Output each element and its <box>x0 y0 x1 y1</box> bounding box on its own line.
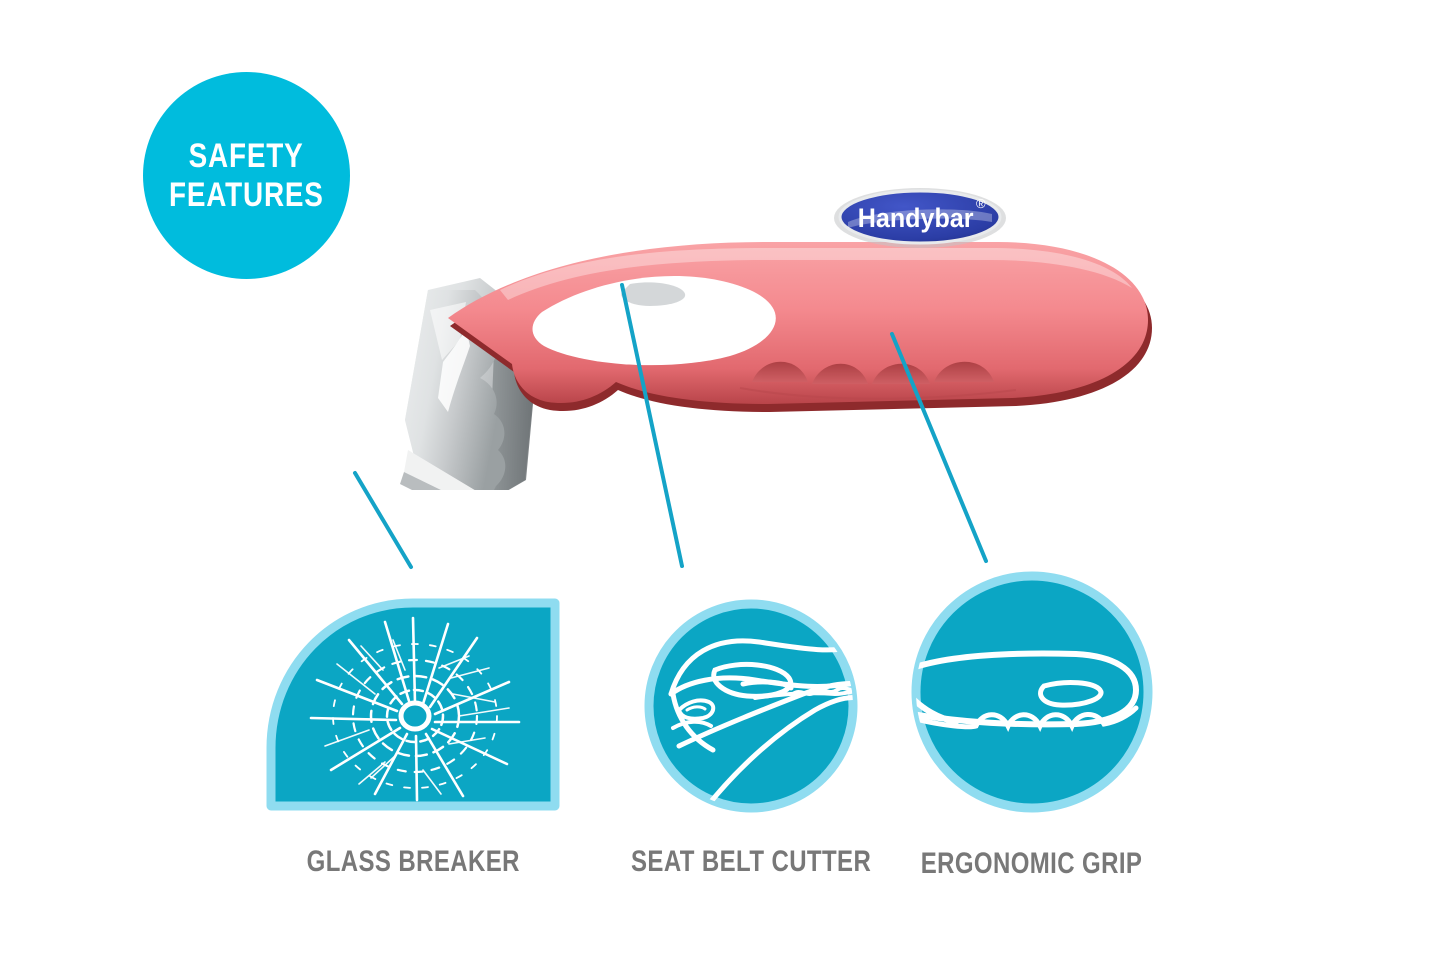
brand-badge: Handybar ® <box>834 188 1006 248</box>
feature-label-glass-breaker: GLASS BREAKER <box>306 845 519 879</box>
badge-title-line1: SAFETY <box>189 139 304 173</box>
feature-label-ergonomic-grip: ERGONOMIC GRIP <box>921 847 1143 881</box>
feature-ergonomic-grip: ERGONOMIC GRIP <box>893 568 1170 881</box>
belt-cutter-icon <box>643 598 859 819</box>
feature-label-seat-belt-cutter: SEAT BELT CUTTER <box>631 845 871 879</box>
feature-seat-belt-cutter: SEAT BELT CUTTER <box>601 598 901 879</box>
shattered-glass-icon <box>263 598 563 819</box>
brand-badge-text: Handybar <box>858 202 974 233</box>
grip-handle-icon <box>908 568 1156 821</box>
brand-trademark-symbol: ® <box>976 196 986 211</box>
infographic-canvas: SAFETY FEATURES <box>0 0 1445 963</box>
product-image: Handybar ® <box>300 150 1160 490</box>
feature-glass-breaker: GLASS BREAKER <box>263 598 563 879</box>
